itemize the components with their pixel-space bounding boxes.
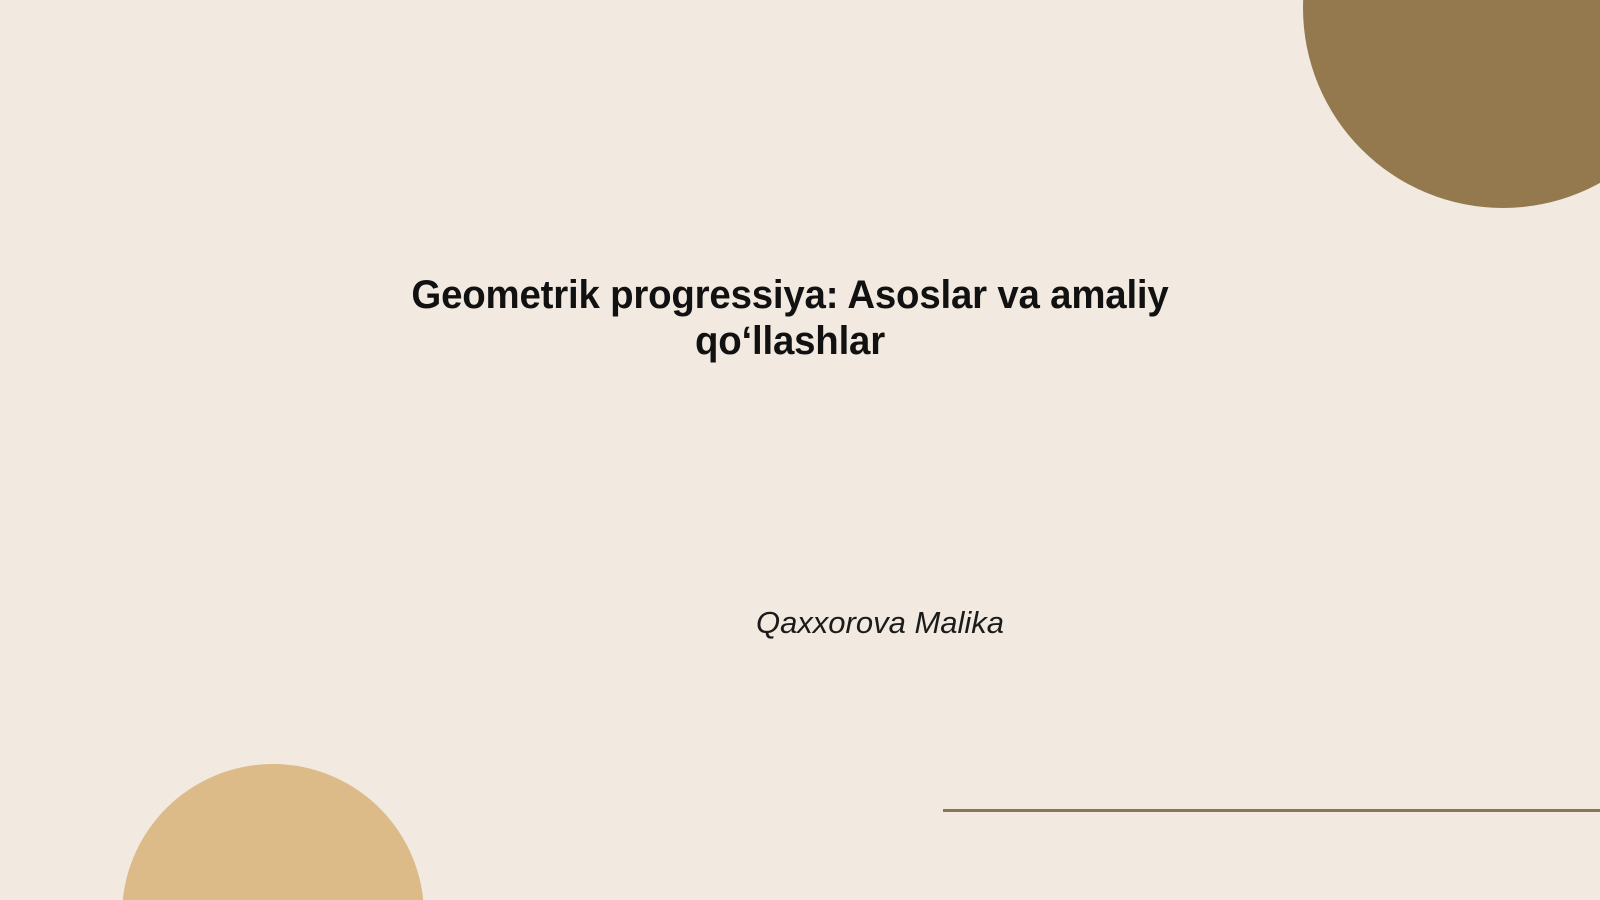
slide-title: Geometrik progressiya: Asoslar va amaliy…	[348, 272, 1231, 365]
subtitle-block: Qaxxorova Malika	[495, 604, 1265, 643]
presentation-slide: Geometrik progressiya: Asoslar va amaliy…	[0, 0, 1600, 900]
tan-circle-decoration	[122, 764, 424, 900]
accent-horizontal-rule	[943, 809, 1600, 812]
olive-circle-decoration	[1303, 0, 1600, 208]
title-block: Geometrik progressiya: Asoslar va amaliy…	[330, 272, 1250, 365]
slide-subtitle-author: Qaxxorova Malika	[495, 604, 1265, 643]
